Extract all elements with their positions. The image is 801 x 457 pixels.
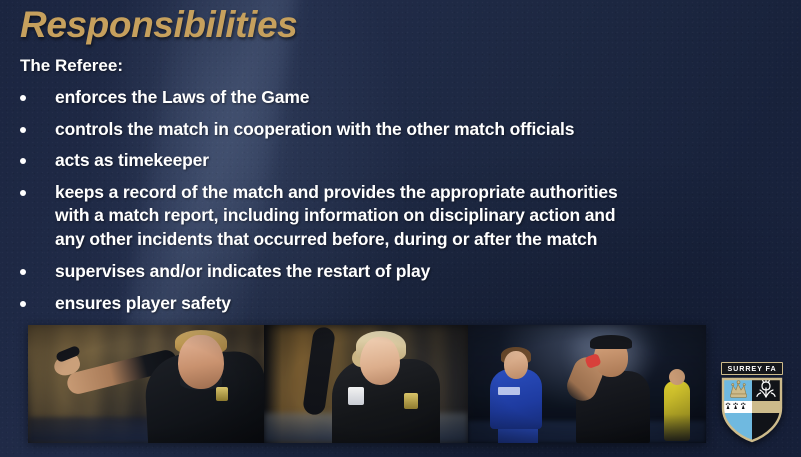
page-title: Responsibilities [20, 4, 297, 46]
kit-badge-left [348, 387, 364, 405]
referee-pointing-photo [28, 325, 264, 443]
lead-text: The Referee: [20, 56, 123, 76]
player-head [504, 351, 528, 379]
list-item-label: enforces the Laws of the Game [55, 86, 309, 110]
list-item-label: keeps a record of the match and provides… [55, 181, 618, 252]
referee-arm-raised-photo [264, 325, 468, 443]
bullet-marker-icon [20, 260, 55, 275]
bullet-marker-icon [20, 181, 55, 196]
list-item-label: ensures player safety [55, 292, 231, 316]
list-item: acts as timekeeper [20, 149, 760, 173]
kit-badge [216, 387, 228, 401]
surrey-fa-crest: SURREY FA [718, 360, 786, 444]
list-item-label: supervises and/or indicates the restart … [55, 260, 430, 284]
referee-whistle-night-photo [468, 325, 706, 443]
list-item: supervises and/or indicates the restart … [20, 260, 760, 284]
list-item: controls the match in cooperation with t… [20, 118, 760, 142]
responsibilities-list: enforces the Laws of the Game controls t… [20, 86, 760, 323]
player-kit-badge [498, 387, 520, 395]
bullet-marker-icon [20, 292, 55, 307]
bullet-marker-icon [20, 118, 55, 133]
kit-badge-right [404, 393, 418, 409]
referee-head [360, 337, 400, 385]
crest-banner-label: SURREY FA [721, 362, 783, 375]
list-item: keeps a record of the match and provides… [20, 181, 760, 252]
list-item: ensures player safety [20, 292, 760, 316]
bullet-marker-icon [20, 149, 55, 164]
referee-headband [590, 335, 632, 349]
bullet-marker-icon [20, 86, 55, 101]
slide-canvas: Responsibilities The Referee: enforces t… [0, 0, 801, 457]
referee-head [178, 335, 224, 389]
photo-strip [28, 325, 706, 443]
background-player-yellow [664, 381, 690, 441]
list-item: enforces the Laws of the Game [20, 86, 760, 110]
list-item-label: acts as timekeeper [55, 149, 209, 173]
background-player-head [669, 369, 685, 385]
list-item-label: controls the match in cooperation with t… [55, 118, 574, 142]
